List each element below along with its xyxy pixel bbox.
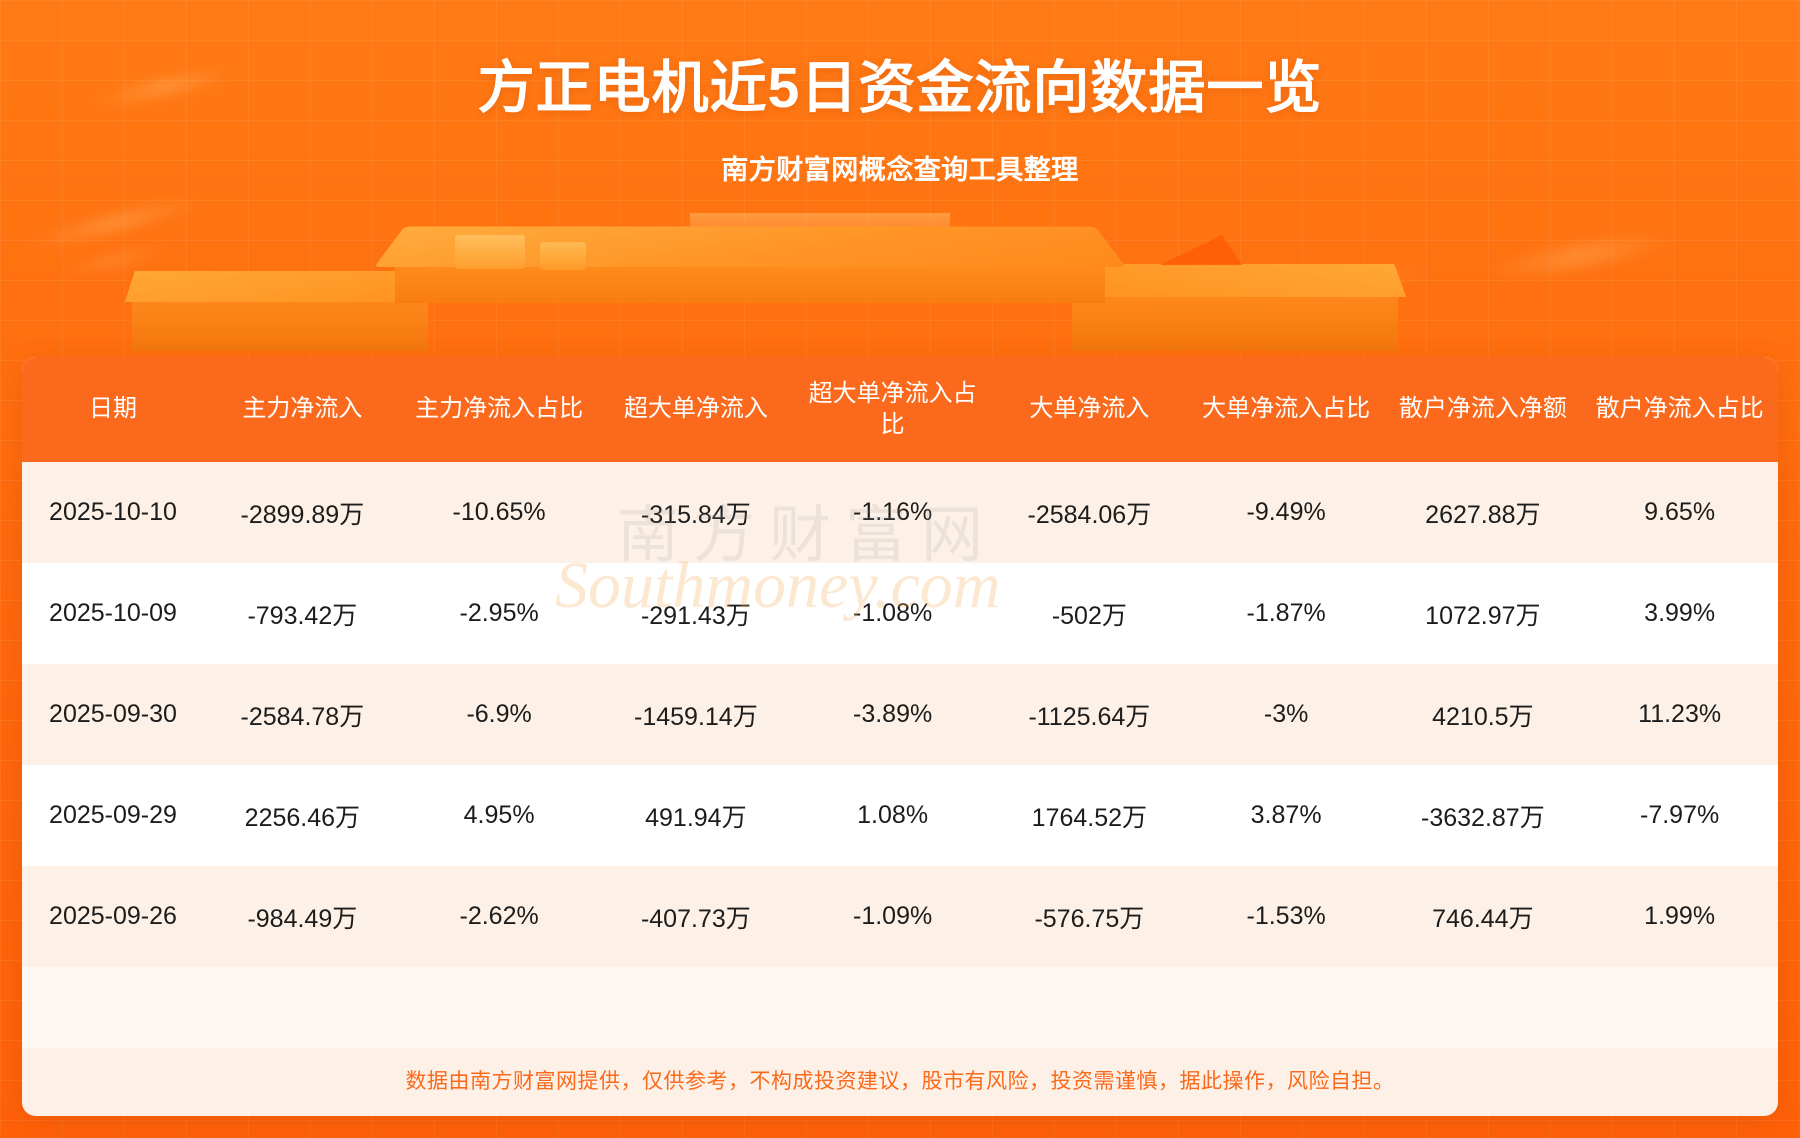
podium-block-icon	[540, 242, 586, 270]
cell-main-net: -984.49万	[204, 866, 401, 967]
cell-main-net: -793.42万	[204, 563, 401, 664]
column-header-big-net: 大单净流入	[991, 357, 1188, 462]
cell-retail-net: 746.44万	[1384, 866, 1581, 967]
column-header-big-pct: 大单净流入占比	[1188, 357, 1385, 462]
cell-main-pct: -10.65%	[401, 462, 598, 563]
cell-date: 2025-09-30	[22, 664, 204, 765]
cell-date: 2025-10-09	[22, 563, 204, 664]
cell-main-pct: -6.9%	[401, 664, 598, 765]
column-header-date: 日期	[22, 357, 204, 462]
cell-retail-net: 2627.88万	[1384, 462, 1581, 563]
table-row: 2025-09-30 -2584.78万 -6.9% -1459.14万 -3.…	[22, 664, 1778, 765]
cell-retail-net: 1072.97万	[1384, 563, 1581, 664]
cell-big-net: -576.75万	[991, 866, 1188, 967]
cell-super-net: -291.43万	[597, 563, 794, 664]
cell-super-pct: -3.89%	[794, 664, 991, 765]
cell-retail-net: -3632.87万	[1384, 765, 1581, 866]
cell-big-pct: -3%	[1188, 664, 1385, 765]
cell-date: 2025-10-10	[22, 462, 204, 563]
cell-retail-pct: 11.23%	[1581, 664, 1778, 765]
cell-super-net: -315.84万	[597, 462, 794, 563]
cell-retail-pct: 9.65%	[1581, 462, 1778, 563]
cell-retail-pct: 1.99%	[1581, 866, 1778, 967]
cell-date: 2025-09-26	[22, 866, 204, 967]
cell-super-net: -407.73万	[597, 866, 794, 967]
fund-flow-table: 日期 主力净流入 主力净流入占比 超大单净流入 超大单净流入占比 大单净流入 大…	[22, 357, 1778, 967]
cell-date: 2025-09-29	[22, 765, 204, 866]
cell-super-net: 491.94万	[597, 765, 794, 866]
table-row: 2025-09-26 -984.49万 -2.62% -407.73万 -1.0…	[22, 866, 1778, 967]
table-row: 2025-10-10 -2899.89万 -10.65% -315.84万 -1…	[22, 462, 1778, 563]
cell-big-pct: 3.87%	[1188, 765, 1385, 866]
column-header-retail-pct: 散户净流入占比	[1581, 357, 1778, 462]
cell-retail-pct: -7.97%	[1581, 765, 1778, 866]
cell-super-net: -1459.14万	[597, 664, 794, 765]
table-row: 2025-09-29 2256.46万 4.95% 491.94万 1.08% …	[22, 765, 1778, 866]
cell-big-pct: -9.49%	[1188, 462, 1385, 563]
cell-big-pct: -1.87%	[1188, 563, 1385, 664]
data-card: 日期 主力净流入 主力净流入占比 超大单净流入 超大单净流入占比 大单净流入 大…	[22, 357, 1778, 1116]
page-subtitle: 南方财富网概念查询工具整理	[0, 148, 1800, 187]
table-row: 2025-10-09 -793.42万 -2.95% -291.43万 -1.0…	[22, 563, 1778, 664]
cell-super-pct: -1.16%	[794, 462, 991, 563]
cell-big-net: -2584.06万	[991, 462, 1188, 563]
cell-main-pct: -2.95%	[401, 563, 598, 664]
table-header-row: 日期 主力净流入 主力净流入占比 超大单净流入 超大单净流入占比 大单净流入 大…	[22, 357, 1778, 462]
cell-retail-pct: 3.99%	[1581, 563, 1778, 664]
table-header: 日期 主力净流入 主力净流入占比 超大单净流入 超大单净流入占比 大单净流入 大…	[22, 357, 1778, 462]
cell-super-pct: 1.08%	[794, 765, 991, 866]
column-header-retail-net: 散户净流入净额	[1384, 357, 1581, 462]
column-header-main-net: 主力净流入	[204, 357, 401, 462]
cell-big-net: -502万	[991, 563, 1188, 664]
column-header-super-pct: 超大单净流入占比	[794, 357, 991, 462]
cell-retail-net: 4210.5万	[1384, 664, 1581, 765]
page-title: 方正电机近5日资金流向数据一览	[0, 42, 1800, 124]
podium-wedge-icon	[1160, 235, 1242, 265]
cell-main-pct: 4.95%	[401, 765, 598, 866]
cell-big-net: -1125.64万	[991, 664, 1188, 765]
column-header-main-pct: 主力净流入占比	[401, 357, 598, 462]
podium-left-top	[125, 271, 435, 302]
cell-big-net: 1764.52万	[991, 765, 1188, 866]
column-header-super-net: 超大单净流入	[597, 357, 794, 462]
cell-big-pct: -1.53%	[1188, 866, 1385, 967]
cell-super-pct: -1.08%	[794, 563, 991, 664]
cell-super-pct: -1.09%	[794, 866, 991, 967]
cell-main-net: 2256.46万	[204, 765, 401, 866]
podium-block-icon	[455, 235, 525, 269]
cell-main-pct: -2.62%	[401, 866, 598, 967]
podium-right-face	[1072, 289, 1398, 351]
disclaimer-text: 数据由南方财富网提供，仅供参考，不构成投资建议，股市有风险，投资需谨慎，据此操作…	[22, 1048, 1778, 1116]
podium-right-top	[1064, 264, 1406, 297]
cell-main-net: -2899.89万	[204, 462, 401, 563]
cell-main-net: -2584.78万	[204, 664, 401, 765]
table-body: 2025-10-10 -2899.89万 -10.65% -315.84万 -1…	[22, 462, 1778, 967]
podium-illustration	[0, 195, 1800, 355]
